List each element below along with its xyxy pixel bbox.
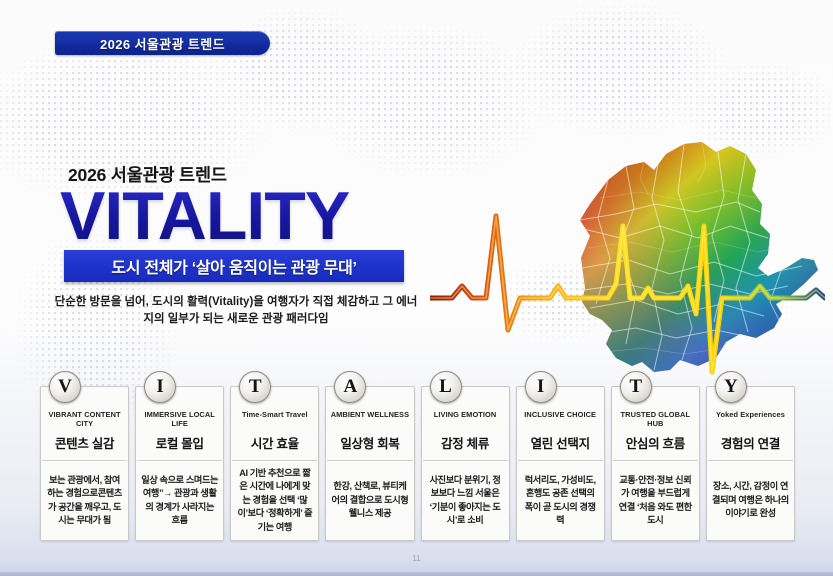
card-kr-title: 경험의 연결 xyxy=(707,424,794,460)
card-en-title: VIBRANT CONTENT CITY xyxy=(41,410,128,424)
hero-banner-label: 도시 전체가 ‘살아 움직이는 관광 무대’ xyxy=(111,254,356,278)
card-kr-title: 시간 효율 xyxy=(231,424,318,460)
card-description: 일상 속으로 스며드는 여행”→ 관광과 생활의 경계가 사라지는 흐름 xyxy=(136,461,223,540)
card-kr-title: 일상형 회복 xyxy=(326,424,413,460)
card-en-title: TRUSTED GLOBAL HUB xyxy=(612,410,699,424)
page-number: 11 xyxy=(0,554,833,563)
card-letter-badge: T xyxy=(239,371,271,403)
card-en-title: IMMERSIVE LOCAL LIFE xyxy=(136,410,223,424)
card-letter-badge: L xyxy=(430,371,462,403)
trend-card[interactable]: V VIBRANT CONTENT CITY 콘텐츠 실감 보는 관광에서, 참… xyxy=(40,386,129,541)
bottom-band xyxy=(0,572,833,576)
card-en-title: Yoked Experiences xyxy=(707,410,794,424)
card-description: AI 기반 추천으로 짧은 시간에 나에게 맞는 경험을 선택 ‘많이’보다 ‘… xyxy=(231,461,318,540)
card-kr-title: 감정 체류 xyxy=(422,424,509,460)
card-letter-badge: I xyxy=(525,371,557,403)
trend-card[interactable]: Y Yoked Experiences 경험의 연결 장소, 시간, 감정이 연… xyxy=(706,386,795,541)
card-kr-title: 열린 선택지 xyxy=(517,424,604,460)
hero-keyword: VITALITY xyxy=(60,182,349,250)
hero-lead-text: 단순한 방문을 넘어, 도시의 활력(Vitality)을 여행자가 직접 체감… xyxy=(52,294,420,328)
card-letter-badge: A xyxy=(334,371,366,403)
card-letter-badge: T xyxy=(620,371,652,403)
card-description: 보는 관광에서, 참여하는 경험으로콘텐츠가 공간을 깨우고, 도시는 무대가 … xyxy=(41,461,128,540)
card-letter-badge: Y xyxy=(715,371,747,403)
trend-card-row: V VIBRANT CONTENT CITY 콘텐츠 실감 보는 관광에서, 참… xyxy=(40,386,795,541)
seoul-map-graphic xyxy=(430,108,825,408)
header-ribbon: 2026 서울관광 트렌드 xyxy=(55,31,270,55)
card-description: 교통·안전·정보 신뢰가 여행을 부드럽게 연결 ‘처음 와도 편한 도시 xyxy=(612,461,699,540)
trend-card[interactable]: I INCLUSIVE CHOICE 열린 선택지 럭서리도, 가성비도, 혼행… xyxy=(516,386,605,541)
card-kr-title: 콘텐츠 실감 xyxy=(41,424,128,460)
card-en-title: LIVING EMOTION xyxy=(422,410,509,424)
card-letter-badge: I xyxy=(144,371,176,403)
card-kr-title: 로컬 몰입 xyxy=(136,424,223,460)
card-description: 한강, 산책로, 뷰티케어의 결합으로 도시형 웰니스 제공 xyxy=(326,461,413,540)
card-description: 장소, 시간, 감정이 연결되며 여행은 하나의 이야기로 완성 xyxy=(707,461,794,540)
trend-card[interactable]: T Time-Smart Travel 시간 효율 AI 기반 추천으로 짧은 … xyxy=(230,386,319,541)
header-ribbon-label: 2026 서울관광 트렌드 xyxy=(100,34,225,53)
card-description: 사진보다 분위기, 정보보다 느낌 서울은 ‘기분이 좋아지는 도시’로 소비 xyxy=(422,461,509,540)
trend-card[interactable]: I IMMERSIVE LOCAL LIFE 로컬 몰입 일상 속으로 스며드는… xyxy=(135,386,224,541)
card-en-title: Time-Smart Travel xyxy=(231,410,318,424)
trend-card[interactable]: L LIVING EMOTION 감정 체류 사진보다 분위기, 정보보다 느낌… xyxy=(421,386,510,541)
hero-banner: 도시 전체가 ‘살아 움직이는 관광 무대’ xyxy=(64,250,404,282)
card-en-title: INCLUSIVE CHOICE xyxy=(517,410,604,424)
trend-card[interactable]: A AMBIENT WELLNESS 일상형 회복 한강, 산책로, 뷰티케어의… xyxy=(325,386,414,541)
card-description: 럭서리도, 가성비도, 혼행도 공존 선택의 폭이 곧 도시의 경쟁력 xyxy=(517,461,604,540)
slide-canvas: 2026 서울관광 트렌드 2026 서울관광 트렌드 VITALITY 도시 … xyxy=(0,0,833,576)
card-letter-badge: V xyxy=(49,371,81,403)
card-en-title: AMBIENT WELLNESS xyxy=(326,410,413,424)
card-kr-title: 안심의 흐름 xyxy=(612,424,699,460)
trend-card[interactable]: T TRUSTED GLOBAL HUB 안심의 흐름 교통·안전·정보 신뢰가… xyxy=(611,386,700,541)
